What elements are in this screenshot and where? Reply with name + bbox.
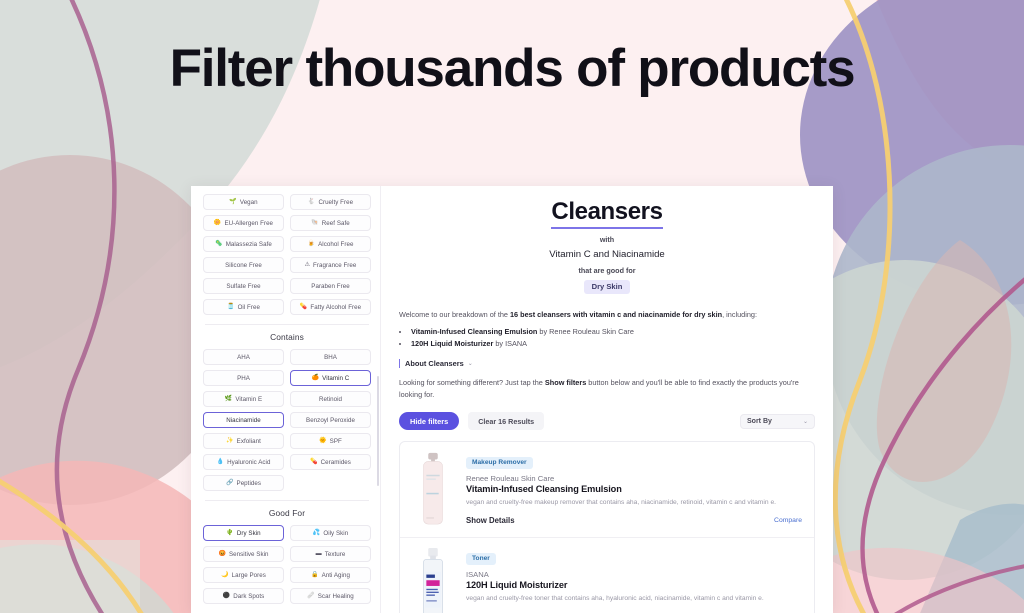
filter-chip-label: BHA bbox=[324, 354, 337, 361]
rabbit-icon: 🐇 bbox=[308, 199, 316, 205]
product-card[interactable]: Makeup RemoverRenee Rouleau Skin CareVit… bbox=[400, 442, 814, 538]
filter-chip-oily-skin[interactable]: 💦Oily Skin bbox=[290, 525, 371, 541]
filter-chip-label: Sulfate Free bbox=[226, 283, 260, 290]
chevron-down-icon: ⌄ bbox=[468, 360, 473, 367]
splash-icon: 💦 bbox=[313, 530, 321, 536]
filter-chip-bha[interactable]: BHA bbox=[290, 349, 371, 365]
intro-paragraph: Welcome to our breakdown of the 16 best … bbox=[399, 309, 815, 320]
filter-chip-silicone-free[interactable]: Silicone Free bbox=[203, 257, 284, 273]
link-icon: 🔗 bbox=[226, 480, 234, 486]
cactus-icon: 🌵 bbox=[226, 530, 234, 536]
product-description: vegan and cruelty-free makeup remover th… bbox=[466, 498, 802, 508]
featured-product-name: Vitamin-Infused Cleansing Emulsion bbox=[411, 327, 537, 336]
contains-heading: Contains bbox=[203, 332, 371, 342]
texture-icon: ▬ bbox=[316, 551, 322, 557]
filter-chip-anti-aging[interactable]: 🔒Anti Aging bbox=[290, 567, 371, 583]
filter-chip-label: Oil Free bbox=[238, 304, 260, 311]
filter-chip-hyaluronic-acid[interactable]: 💧Hyaluronic Acid bbox=[203, 454, 284, 470]
filter-chip-scar-healing[interactable]: 🩹Scar Healing bbox=[290, 588, 371, 604]
flower-icon: 🌼 bbox=[214, 220, 222, 226]
filter-chip-label: Alcohol Free bbox=[318, 241, 353, 248]
filter-chip-label: Fragrance Free bbox=[313, 262, 356, 269]
controls-row: Hide filters Clear 16 Results Sort By ⌄ bbox=[399, 412, 815, 430]
leaf-icon: 🌿 bbox=[225, 396, 233, 402]
filter-chip-ceramides[interactable]: 💊Ceramides bbox=[290, 454, 371, 470]
bandage-icon: 🩹 bbox=[307, 593, 315, 599]
filter-chip-label: Hyaluronic Acid bbox=[227, 459, 270, 466]
about-cleansers-toggle[interactable]: About Cleansers ⌄ bbox=[399, 359, 815, 368]
bottle-icon: 🫙 bbox=[227, 304, 235, 310]
filter-chip-label: AHA bbox=[237, 354, 250, 361]
product-name: 120H Liquid Moisturizer bbox=[466, 580, 802, 590]
filter-chip-label: Dry Skin bbox=[237, 530, 261, 537]
filter-chip-malassezia-safe[interactable]: 🦠Malassezia Safe bbox=[203, 236, 284, 252]
subtitle-with: with bbox=[399, 235, 815, 244]
filter-chip-alcohol-free[interactable]: 🍺Alcohol Free bbox=[290, 236, 371, 252]
page-title: Cleansers bbox=[551, 198, 662, 229]
filter-chip-niacinamide[interactable]: Niacinamide bbox=[203, 412, 284, 428]
filters-sidebar[interactable]: 🌱Vegan🐇Cruelty Free🌼EU-Allergen Free🐚Ree… bbox=[191, 186, 381, 613]
filter-chip-peptides[interactable]: 🔗Peptides bbox=[203, 475, 284, 491]
filter-chip-spf[interactable]: 🌞SPF bbox=[290, 433, 371, 449]
hide-filters-button[interactable]: Hide filters bbox=[399, 412, 459, 430]
product-info: TonerISANA120H Liquid Moisturizervegan a… bbox=[466, 547, 802, 613]
product-brand: Renee Rouleau Skin Care bbox=[466, 474, 802, 483]
filter-chip-label: Peptides bbox=[237, 480, 261, 487]
coral-icon: 🐚 bbox=[311, 220, 319, 226]
filter-chip-label: SPF bbox=[330, 438, 342, 445]
intro-prefix: Welcome to our breakdown of the bbox=[399, 310, 510, 319]
lock-icon: 🔒 bbox=[311, 572, 319, 578]
filter-chip-label: Reef Safe bbox=[322, 220, 350, 227]
looking-prefix: Looking for something different? Just ta… bbox=[399, 378, 545, 387]
filter-chip-reef-safe[interactable]: 🐚Reef Safe bbox=[290, 215, 371, 231]
title-block: Cleansers with Vitamin C and Niacinamide… bbox=[399, 198, 815, 294]
filter-chip-dark-spots[interactable]: ⚫Dark Spots bbox=[203, 588, 284, 604]
beer-icon: 🍺 bbox=[308, 241, 316, 247]
capsule-icon: 💊 bbox=[310, 459, 318, 465]
page-headline: Filter thousands of products bbox=[0, 38, 1024, 99]
intro-bold: 16 best cleansers with vitamin c and nia… bbox=[510, 310, 722, 319]
filter-chip-label: Paraben Free bbox=[311, 283, 349, 290]
filter-chip-label: PHA bbox=[237, 375, 250, 382]
filter-chip-label: Scar Healing bbox=[318, 593, 354, 600]
featured-product-name: 120H Liquid Moisturizer bbox=[411, 339, 493, 348]
product-image-blue-spray-bottle bbox=[412, 547, 454, 613]
product-list: Makeup RemoverRenee Rouleau Skin CareVit… bbox=[399, 441, 815, 613]
filter-chip-label: Exfoliant bbox=[237, 438, 261, 445]
orange-icon: 🍊 bbox=[312, 375, 320, 381]
about-label: About Cleansers bbox=[405, 359, 464, 368]
filter-chip-label: Malassezia Safe bbox=[226, 241, 272, 248]
filter-chip-label: Retinoid bbox=[319, 396, 342, 403]
product-name: Vitamin-Infused Cleansing Emulsion bbox=[466, 484, 802, 494]
filter-chip-benzoyl-peroxide[interactable]: Benzoyl Peroxide bbox=[290, 412, 371, 428]
contains-filter-grid[interactable]: AHABHAPHA🍊Vitamin C🌿Vitamin ERetinoidNia… bbox=[203, 349, 371, 491]
good-for-heading: Good For bbox=[203, 508, 371, 518]
droplet-icon: 💧 bbox=[217, 459, 225, 465]
featured-product-brand: by ISANA bbox=[493, 339, 527, 348]
filter-chip-label: Oily Skin bbox=[323, 530, 348, 537]
app-screenshot-panel: 🌱Vegan🐇Cruelty Free🌼EU-Allergen Free🐚Ree… bbox=[191, 186, 833, 613]
chevron-down-icon: ⌄ bbox=[803, 418, 808, 425]
show-details-button[interactable]: Show Details bbox=[466, 516, 515, 525]
product-category-badge: Makeup Remover bbox=[466, 457, 533, 469]
product-card-actions: Show DetailsCompare bbox=[466, 516, 802, 525]
filter-chip-pha[interactable]: PHA bbox=[203, 370, 284, 386]
filter-chip-label: Ceramides bbox=[321, 459, 351, 466]
product-description: vegan and cruelty-free toner that contai… bbox=[466, 594, 802, 604]
main-content: Cleansers with Vitamin C and Niacinamide… bbox=[381, 186, 833, 613]
pores-icon: 🌙 bbox=[221, 572, 229, 578]
filter-chip-label: Vegan bbox=[240, 199, 258, 206]
sun-icon: 🌞 bbox=[319, 438, 327, 444]
featured-product-brand: by Renee Rouleau Skin Care bbox=[537, 327, 634, 336]
filter-chip-oil-free[interactable]: 🫙Oil Free bbox=[203, 299, 284, 315]
seedling-icon: 🌱 bbox=[229, 199, 237, 205]
filter-chip-label: Cruelty Free bbox=[318, 199, 353, 206]
subtitle-good-for: that are good for bbox=[399, 266, 815, 275]
filter-chip-sulfate-free[interactable]: Sulfate Free bbox=[203, 278, 284, 294]
microbe-icon: 🦠 bbox=[215, 241, 223, 247]
product-card[interactable]: TonerISANA120H Liquid Moisturizervegan a… bbox=[400, 538, 814, 613]
filter-chip-eu-allergen-free[interactable]: 🌼EU-Allergen Free bbox=[203, 215, 284, 231]
filter-chip-label: Large Pores bbox=[232, 572, 266, 579]
clear-results-button[interactable]: Clear 16 Results bbox=[468, 412, 544, 430]
filter-chip-label: Niacinamide bbox=[226, 417, 261, 424]
filter-chip-cruelty-free[interactable]: 🐇Cruelty Free bbox=[290, 194, 371, 210]
filter-chip-paraben-free[interactable]: Paraben Free bbox=[290, 278, 371, 294]
subtitle-ingredients: Vitamin C and Niacinamide bbox=[399, 249, 815, 260]
filter-chip-aha[interactable]: AHA bbox=[203, 349, 284, 365]
filter-chip-vitamin-c[interactable]: 🍊Vitamin C bbox=[290, 370, 371, 386]
filter-chip-label: Dark Spots bbox=[233, 593, 264, 600]
filter-chip-large-pores[interactable]: 🌙Large Pores bbox=[203, 567, 284, 583]
dot-icon: ⚫ bbox=[223, 593, 231, 599]
attribute-filter-grid[interactable]: 🌱Vegan🐇Cruelty Free🌼EU-Allergen Free🐚Ree… bbox=[203, 194, 371, 315]
pill-icon: 💊 bbox=[300, 304, 308, 310]
filter-chip-label: EU-Allergen Free bbox=[224, 220, 273, 227]
filter-chip-label: Vitamin E bbox=[235, 396, 262, 403]
sparkle-icon: ✨ bbox=[226, 438, 234, 444]
warning-icon: ⚠ bbox=[305, 262, 310, 268]
skin-type-pill[interactable]: Dry Skin bbox=[584, 280, 631, 294]
compare-link[interactable]: Compare bbox=[774, 517, 802, 524]
sidebar-divider-1 bbox=[205, 324, 369, 325]
redface-icon: 😡 bbox=[218, 551, 226, 557]
sort-by-dropdown[interactable]: Sort By ⌄ bbox=[740, 414, 815, 429]
featured-product-item: Vitamin-Infused Cleansing Emulsion by Re… bbox=[410, 326, 815, 338]
intro-suffix: , including: bbox=[722, 310, 757, 319]
filter-chip-label: Anti Aging bbox=[322, 572, 350, 579]
filter-chip-fatty-alcohol-free[interactable]: 💊Fatty Alcohol Free bbox=[290, 299, 371, 315]
filter-chip-dry-skin[interactable]: 🌵Dry Skin bbox=[203, 525, 284, 541]
sidebar-scrollbar[interactable] bbox=[377, 376, 380, 486]
sidebar-divider-2 bbox=[205, 500, 369, 501]
looking-bold: Show filters bbox=[545, 378, 586, 387]
filter-chip-label: Silicone Free bbox=[225, 262, 262, 269]
filter-chip-label: Texture bbox=[325, 551, 346, 558]
filter-chip-label: Sensitive Skin bbox=[229, 551, 269, 558]
product-image-pink-pump-bottle bbox=[412, 451, 454, 529]
looking-paragraph: Looking for something different? Just ta… bbox=[399, 377, 815, 400]
featured-product-item: 120H Liquid Moisturizer by ISANA bbox=[410, 338, 815, 350]
filter-chip-vitamin-e[interactable]: 🌿Vitamin E bbox=[203, 391, 284, 407]
filter-chip-retinoid[interactable]: Retinoid bbox=[290, 391, 371, 407]
filter-chip-vegan[interactable]: 🌱Vegan bbox=[203, 194, 284, 210]
sort-by-label: Sort By bbox=[747, 418, 772, 425]
filter-chip-sensitive-skin[interactable]: 😡Sensitive Skin bbox=[203, 546, 284, 562]
filter-chip-label: Fatty Alcohol Free bbox=[310, 304, 361, 311]
filter-chip-label: Vitamin C bbox=[322, 375, 349, 382]
good-for-filter-grid[interactable]: 🌵Dry Skin💦Oily Skin😡Sensitive Skin▬Textu… bbox=[203, 525, 371, 604]
filter-chip-exfoliant[interactable]: ✨Exfoliant bbox=[203, 433, 284, 449]
filter-chip-texture[interactable]: ▬Texture bbox=[290, 546, 371, 562]
product-brand: ISANA bbox=[466, 570, 802, 579]
product-category-badge: Toner bbox=[466, 553, 496, 565]
product-info: Makeup RemoverRenee Rouleau Skin CareVit… bbox=[466, 451, 802, 529]
filter-chip-fragrance-free[interactable]: ⚠Fragrance Free bbox=[290, 257, 371, 273]
featured-products-list: Vitamin-Infused Cleansing Emulsion by Re… bbox=[410, 326, 815, 350]
filter-chip-label: Benzoyl Peroxide bbox=[306, 417, 355, 424]
